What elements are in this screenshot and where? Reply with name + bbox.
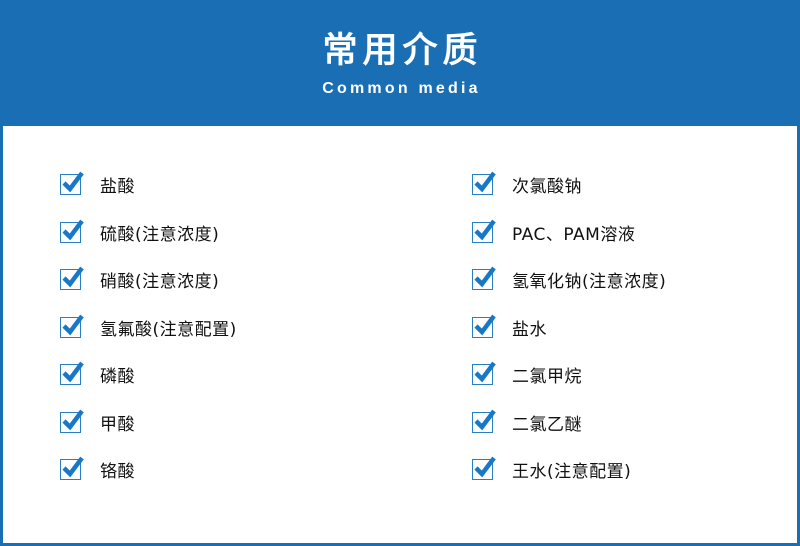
checkbox-checked-icon xyxy=(472,317,493,338)
list-item: 氢氧化钠(注意浓度) xyxy=(472,256,797,304)
list-item: 次氯酸钠 xyxy=(472,161,797,209)
page-subtitle: Common media xyxy=(319,80,480,98)
list-item-label: 甲酸 xyxy=(100,410,135,435)
checkbox-checked-icon xyxy=(60,222,81,243)
list-item-label: PAC、PAM溶液 xyxy=(512,220,635,245)
list-item: 盐水 xyxy=(472,304,797,352)
list-item-label: 硝酸(注意浓度) xyxy=(100,267,219,292)
checkbox-checked-icon xyxy=(472,412,493,433)
media-column-left: 盐酸 硫酸(注意浓度) 硝酸(注意浓度) xyxy=(3,161,400,543)
list-item: 硫酸(注意浓度) xyxy=(60,209,400,257)
list-item-label: 王水(注意配置) xyxy=(512,457,631,482)
checkbox-checked-icon xyxy=(472,174,493,195)
checkbox-checked-icon xyxy=(472,459,493,480)
list-item-label: 氢氧化钠(注意浓度) xyxy=(512,267,666,292)
page-title: 常用介质 xyxy=(317,31,482,71)
checkbox-checked-icon xyxy=(472,364,493,385)
list-item: 铬酸 xyxy=(60,446,400,494)
list-item-label: 次氯酸钠 xyxy=(512,172,582,197)
list-item: 王水(注意配置) xyxy=(472,446,797,494)
list-item: 硝酸(注意浓度) xyxy=(60,256,400,304)
checkbox-checked-icon xyxy=(60,269,81,290)
list-item: 甲酸 xyxy=(60,399,400,447)
list-item-label: 铬酸 xyxy=(100,457,135,482)
list-item-label: 盐酸 xyxy=(100,172,135,197)
media-column-right: 次氯酸钠 PAC、PAM溶液 氢氧化钠(注意浓度) xyxy=(400,161,797,543)
checkbox-checked-icon xyxy=(472,222,493,243)
checkbox-checked-icon xyxy=(472,269,493,290)
list-item: PAC、PAM溶液 xyxy=(472,209,797,257)
list-item: 磷酸 xyxy=(60,351,400,399)
list-item-label: 二氯甲烷 xyxy=(512,362,582,387)
list-item-label: 二氯乙醚 xyxy=(512,410,582,435)
list-item: 氢氟酸(注意配置) xyxy=(60,304,400,352)
list-item-label: 氢氟酸(注意配置) xyxy=(100,315,237,340)
checkbox-checked-icon xyxy=(60,412,81,433)
checkbox-checked-icon xyxy=(60,317,81,338)
page-header: 常用介质 Common media xyxy=(3,3,797,126)
list-item-label: 硫酸(注意浓度) xyxy=(100,220,219,245)
list-item-label: 盐水 xyxy=(512,315,547,340)
list-item: 盐酸 xyxy=(60,161,400,209)
media-list-section: 盐酸 硫酸(注意浓度) 硝酸(注意浓度) xyxy=(3,126,797,543)
list-item-label: 磷酸 xyxy=(100,362,135,387)
list-item: 二氯乙醚 xyxy=(472,399,797,447)
checkbox-checked-icon xyxy=(60,174,81,195)
checkbox-checked-icon xyxy=(60,459,81,480)
checkbox-checked-icon xyxy=(60,364,81,385)
list-item: 二氯甲烷 xyxy=(472,351,797,399)
page-container: 常用介质 Common media 盐酸 硫酸(注意浓度) xyxy=(0,0,800,546)
media-columns: 盐酸 硫酸(注意浓度) 硝酸(注意浓度) xyxy=(3,161,797,543)
